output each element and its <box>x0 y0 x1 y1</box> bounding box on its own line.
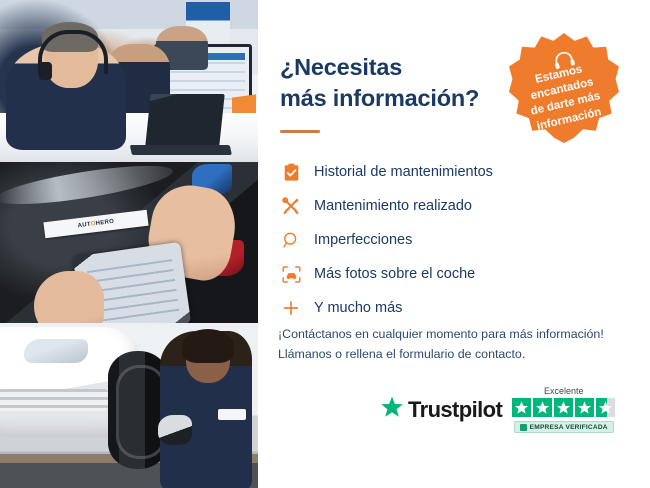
ruler-brand-label: AUTOHERO <box>77 219 114 229</box>
contact-text: ¡Contáctanos en cualquier momento para m… <box>278 324 638 364</box>
headlight <box>24 339 88 363</box>
agent-headset-icon <box>38 30 108 74</box>
tools-cross-icon <box>276 197 306 215</box>
mechanic-hair <box>182 329 234 363</box>
star-filled-1 <box>512 398 531 417</box>
plus-icon <box>276 299 306 317</box>
contact-line-2: Llámanos o rellena el formulario de cont… <box>278 344 638 364</box>
feature-item-much-more: Y mucho más <box>276 291 606 325</box>
feature-label: Historial de mantenimientos <box>306 164 493 180</box>
title-divider <box>280 130 320 133</box>
mechanic-glove <box>158 415 192 445</box>
contact-line-1: ¡Contáctanos en cualquier momento para m… <box>278 324 638 344</box>
status-badge: EMPRESA VERIFICADA <box>514 421 614 433</box>
car-scan-icon <box>276 266 306 283</box>
photo-column: AUTOHERO <box>0 0 258 488</box>
magnifier-icon <box>276 231 306 249</box>
page-title-line-2: más información? <box>280 83 510 114</box>
front-grille <box>0 389 108 411</box>
uniform-logo-patch <box>218 409 246 420</box>
trustpilot-widget[interactable]: Trustpilot Excelente <box>380 386 615 433</box>
laptop <box>145 94 224 146</box>
feature-item-imperfections: Imperfecciones <box>276 223 606 257</box>
star-filled-4 <box>575 398 594 417</box>
photo-car-inspection: AUTOHERO <box>0 162 258 323</box>
support-badge: Estamos encantados de darte más informac… <box>509 33 619 143</box>
inspector-hand-lower <box>34 271 104 323</box>
star-rating <box>512 398 615 417</box>
star-partial-5 <box>596 398 615 417</box>
star-filled-2 <box>533 398 552 417</box>
trustpilot-wordmark: Trustpilot <box>408 397 502 423</box>
trustpilot-rating: Excelente <box>512 386 615 433</box>
feature-item-maintenance-done: Mantenimiento realizado <box>276 189 606 223</box>
trustpilot-logo[interactable]: Trustpilot <box>380 395 502 424</box>
feature-label: Más fotos sobre el coche <box>306 266 475 282</box>
promo-card: AUTOHERO ¿Necesitas más información? <box>0 0 650 488</box>
verified-label: EMPRESA VERIFICADA <box>530 424 608 431</box>
feature-list: Historial de mantenimientos Mantenimient… <box>276 155 606 325</box>
feature-label: Mantenimiento realizado <box>306 198 472 214</box>
feature-item-maintenance-history: Historial de mantenimientos <box>276 155 606 189</box>
page-title: ¿Necesitas más información? <box>280 52 510 113</box>
clipboard-check-icon <box>276 163 306 182</box>
rating-label: Excelente <box>544 386 584 396</box>
autohero-measuring-ruler: AUTOHERO <box>43 210 148 239</box>
feature-label: Imperfecciones <box>306 232 412 248</box>
photo-call-center <box>0 0 258 162</box>
car-body-highlight <box>0 162 175 212</box>
trustpilot-star-icon <box>380 395 404 424</box>
star-filled-3 <box>554 398 573 417</box>
front-wheel <box>108 351 168 469</box>
photo-wheel-check <box>0 323 258 488</box>
feature-label: Y mucho más <box>306 300 402 316</box>
page-title-line-1: ¿Necesitas <box>280 52 510 83</box>
check-icon <box>520 424 527 431</box>
content-panel: ¿Necesitas más información? Estamos enca… <box>258 0 650 488</box>
feature-item-more-photos: Más fotos sobre el coche <box>276 257 606 291</box>
